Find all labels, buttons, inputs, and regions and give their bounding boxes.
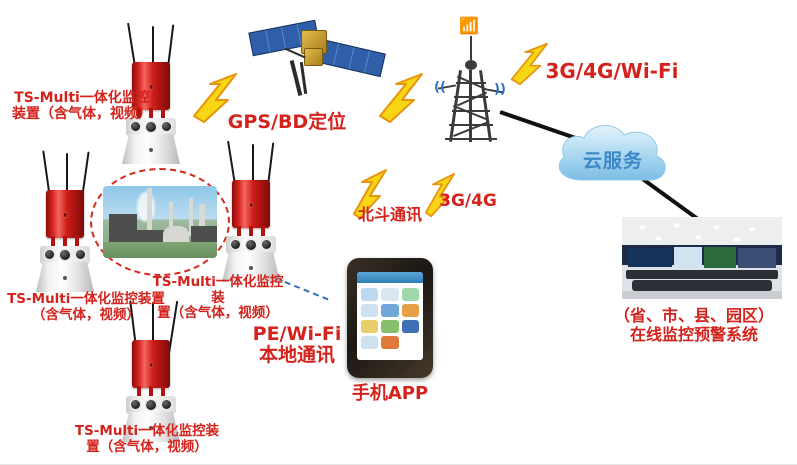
app-icon[interactable] [361,320,378,333]
app-icon[interactable] [402,288,419,301]
video-wall-screen [704,247,736,268]
device-sensor-port [162,400,171,409]
ceiling-light [656,237,661,240]
label-gps-positioning: GPS/BD定位 [222,112,352,134]
app-icon[interactable] [381,288,398,301]
diagram-canvas: 📶 (( )) 云服务 [0,0,797,465]
tower-signal-right-icon: )) [494,82,506,97]
device-red-housing [232,180,270,228]
ceiling-light [696,236,701,239]
device-sensor-port [162,122,171,131]
cell-tower-icon: 📶 (( )) [432,20,512,145]
label-device-top-left: TS-Multi一体化监控 装置（含气体，视频） [2,90,162,122]
video-wall-screen [738,248,776,268]
device-red-housing [46,190,84,238]
app-icon[interactable] [402,336,419,349]
room-floor [622,291,782,299]
device-sensor-port [60,250,70,260]
label-3g4g-wifi: 3G/4G/Wi-Fi [544,60,680,83]
app-icon[interactable] [402,320,419,333]
tablet-screen[interactable] [357,272,423,360]
app-icon[interactable] [361,304,378,317]
device-sensor-port [131,400,140,409]
device-sensor-port [146,122,156,132]
label-device-mid-right: TS-Multi一体化监控装 置（含气体，视频） [152,275,284,322]
device-sensor-port [131,122,140,131]
device-sensor-port [246,240,256,250]
industrial-plant-photo [103,186,217,259]
app-icon[interactable] [381,304,398,317]
tablet-status-bar [357,272,423,283]
device-indicator [249,266,253,270]
label-beidou-comm: 北斗通讯 [342,206,438,224]
operator-desk-row-front [632,280,772,291]
device-sensor-port [45,250,54,259]
label-3g4g: 3G/4G [432,192,504,212]
device-sensor-port [231,240,240,249]
device-sensor-port [262,240,271,249]
device-sensor-port [76,250,85,259]
device-indicator [149,148,153,152]
plant-smoke [137,192,155,222]
tower-truss-4 [449,124,493,126]
label-device-bottom: TS-Multi一体化监控装 置（含气体，视频） [72,424,222,455]
device-indicator [63,276,67,280]
satellite-icon [248,8,383,108]
label-control-center: （省、市、县、园区） 在线监控预警系统 [592,306,796,344]
tower-wifi-icon: 📶 [459,16,479,35]
tablet-app-grid[interactable] [357,283,423,354]
plant-ground [103,242,217,258]
room-ceiling [622,217,782,245]
plant-chimney-tall [147,188,152,236]
label-phone-app: 手机APP [340,384,440,405]
ceiling-light [734,238,739,241]
video-wall-screen [674,247,702,268]
control-room-photo [622,217,782,299]
tower-truss-5 [445,138,497,140]
cloud-label: 云服务 [548,146,678,173]
rugged-tablet-device[interactable] [347,258,433,378]
app-icon[interactable] [361,336,378,349]
app-icon[interactable] [381,336,398,349]
tower-mast [470,36,472,62]
device-red-housing [132,340,170,388]
app-icon[interactable] [361,288,378,301]
device-sensor-port [146,400,156,410]
cloud-service-icon: 云服务 [548,118,678,190]
video-wall-screen [628,248,672,267]
app-icon[interactable] [381,320,398,333]
ceiling-light [674,224,679,227]
monitoring-device-mid-right[interactable] [208,140,294,282]
satellite-bus [304,48,323,66]
tower-leg-right [479,70,492,142]
operator-desk-row-back [626,270,778,279]
tower-top-node [465,60,477,70]
bolt-satellite-to-tower-icon [376,72,444,124]
ceiling-light [750,228,755,231]
monitoring-device-mid-left[interactable] [22,150,108,292]
ceiling-light [640,226,645,229]
label-device-mid-left: TS-Multi一体化监控装置 （含气体，视频） [0,292,172,323]
ceiling-light [714,226,719,229]
label-pe-wifi-local: PE/Wi-Fi 本地通讯 [238,324,356,367]
app-icon[interactable] [402,304,419,317]
